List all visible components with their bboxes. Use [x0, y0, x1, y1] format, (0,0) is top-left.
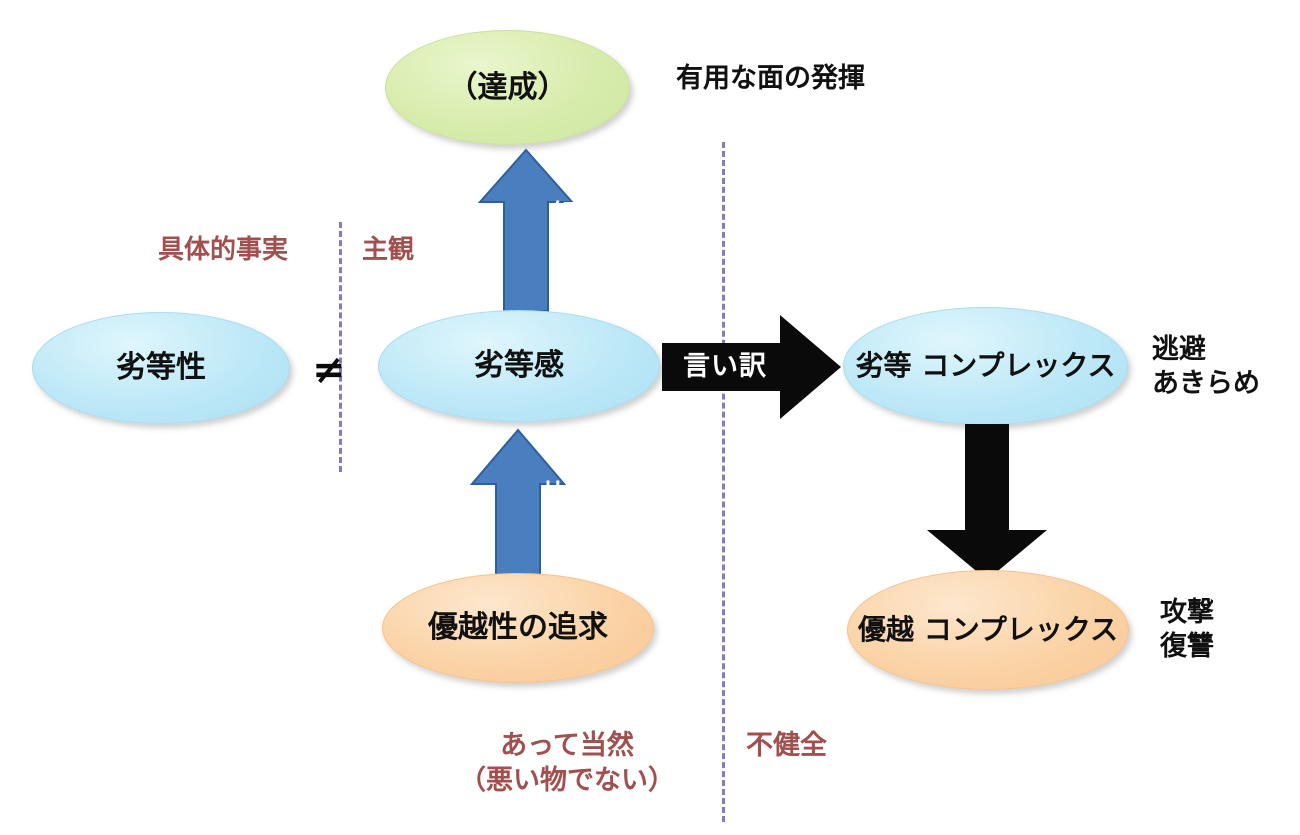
arrow-excuse-label: 言い訳 [672, 353, 778, 380]
arrow-effort: 努力 [478, 148, 574, 313]
divider-right-dashed [722, 142, 725, 822]
diagram-canvas: （達成） 有用な面の発揮 努力 具体的事実 主観 劣等性 ≠ 劣等感 言い訳 劣… [0, 0, 1300, 835]
axis-label-concrete-fact: 具体的事実 [158, 234, 288, 268]
node-superiority-complex[interactable]: 優越 コンプレックス [847, 570, 1129, 690]
annotation-useful-side: 有用な面の発揮 [676, 62, 865, 96]
node-inferiority-trait[interactable]: 劣等性 [32, 312, 290, 424]
axis-label-natural-to-have: あって当然 （悪い物でない） [432, 728, 702, 798]
node-inferiority-feeling[interactable]: 劣等感 [378, 310, 660, 422]
annotation-escape-giveup: 逃避 あきらめ [1152, 333, 1260, 401]
node-achievement[interactable]: （達成） [385, 30, 630, 145]
arrow-comparison: 比較 [470, 428, 566, 580]
not-equal-symbol: ≠ [312, 350, 346, 390]
annotation-attack-revenge: 攻撃 復讐 [1160, 596, 1214, 664]
node-pursuit-superiority[interactable]: 優越性の追求 [382, 573, 654, 683]
axis-label-subjective: 主観 [362, 234, 414, 268]
arrow-comparison-label: 比較 [470, 480, 566, 534]
node-inferiority-complex[interactable]: 劣等 コンプレックス [843, 307, 1128, 425]
arrow-excuse: 言い訳 [660, 313, 843, 421]
arrow-flip-side: 裏がえし [925, 422, 1049, 582]
axis-label-unhealthy: 不健全 [746, 728, 827, 763]
arrow-flip-side-label: 裏がえし [925, 432, 1049, 532]
arrow-effort-label: 努力 [478, 200, 574, 254]
